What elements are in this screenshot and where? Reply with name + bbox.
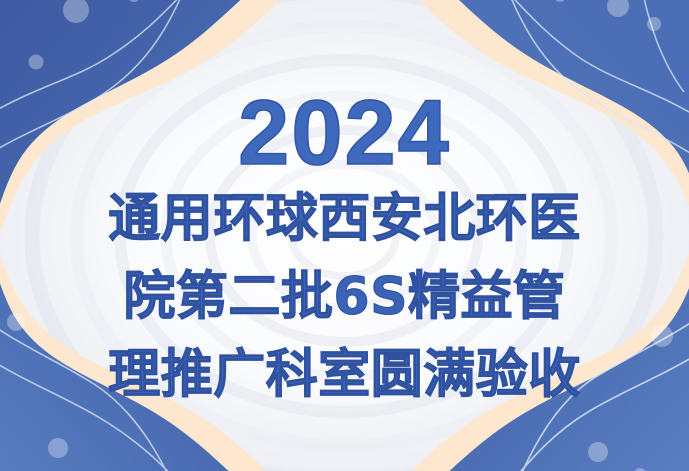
headline: 通用环球西安北环医 院第二批6S精益管 理推广科室圆满验收 — [108, 178, 581, 414]
poster-text-block: 2024 通用环球西安北环医 院第二批6S精益管 理推广科室圆满验收 — [0, 0, 689, 471]
headline-line-2: 院第二批6S精益管 — [108, 258, 581, 336]
headline-line-3: 理推广科室圆满验收 — [108, 336, 581, 414]
headline-line-1: 通用环球西安北环医 — [108, 180, 581, 258]
year-heading: 2024 — [238, 88, 451, 178]
poster-canvas: 2024 通用环球西安北环医 院第二批6S精益管 理推广科室圆满验收 — [0, 0, 689, 471]
